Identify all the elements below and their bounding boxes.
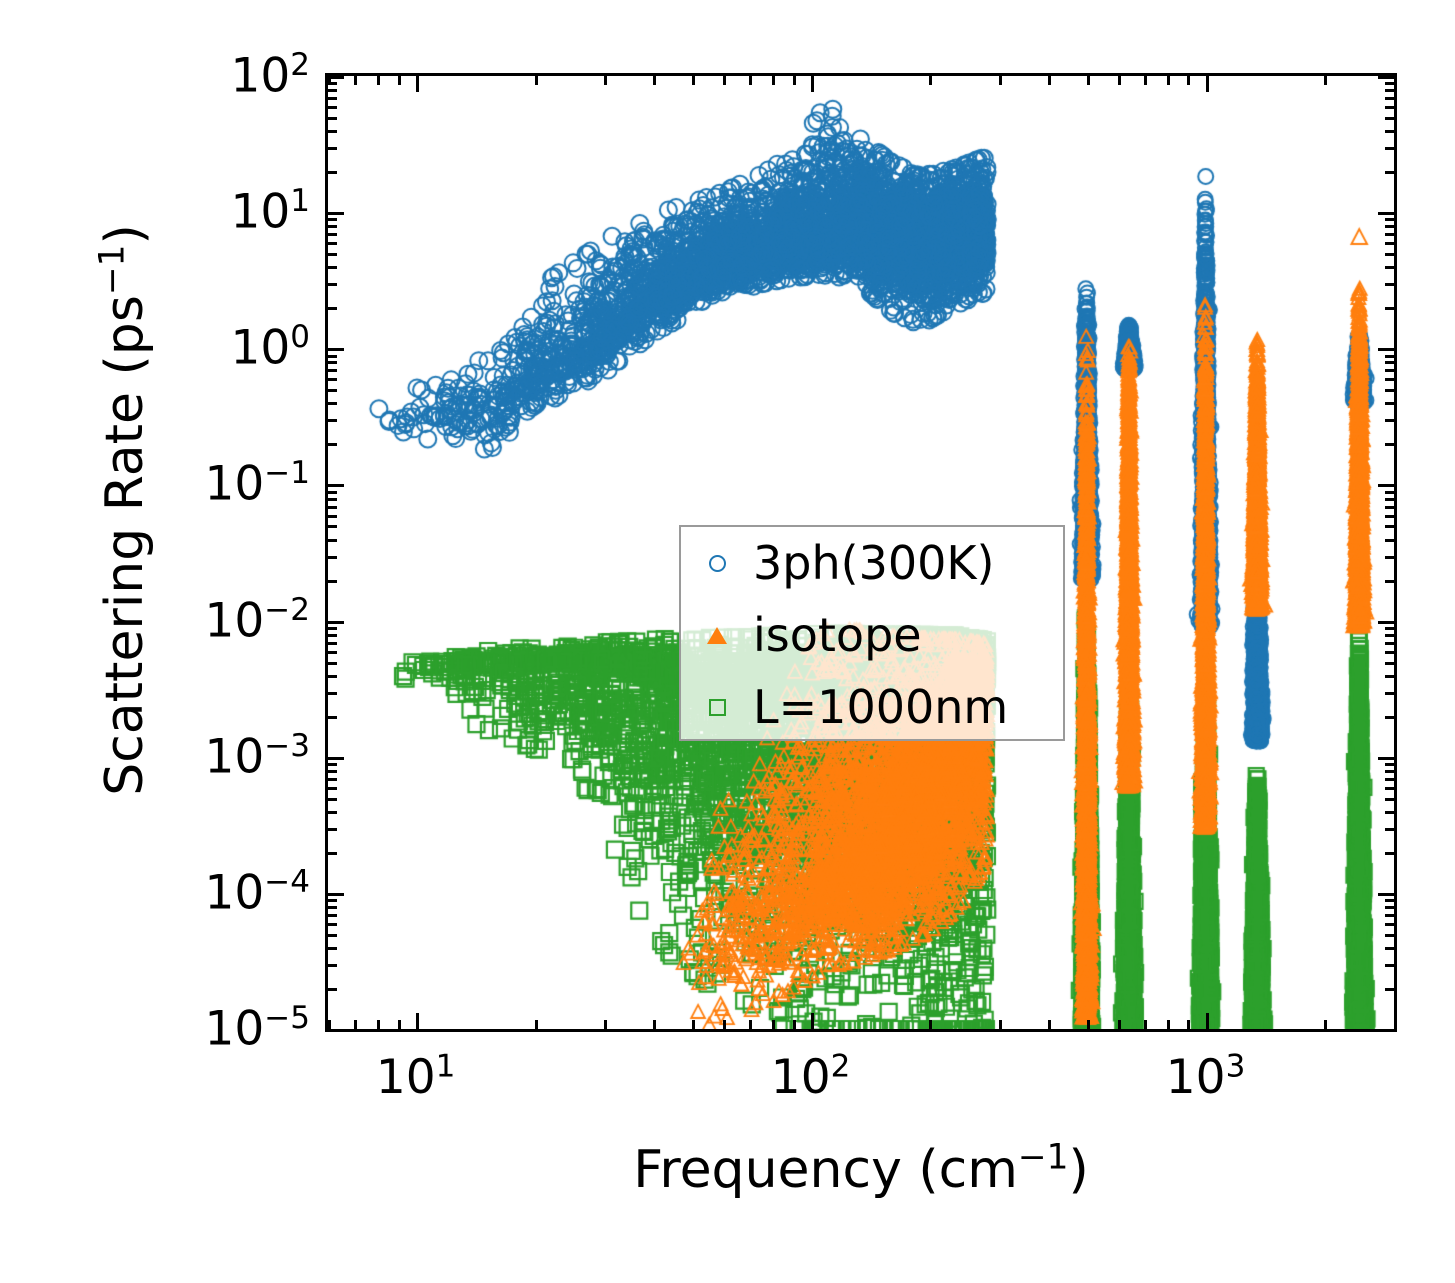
axis-tick (1385, 914, 1394, 917)
axis-tick (398, 76, 401, 85)
axis-tick (354, 1020, 357, 1029)
axis-tick (354, 76, 357, 85)
axis-tick (328, 498, 337, 501)
axis-tick (328, 627, 337, 630)
axis-tick (1385, 627, 1394, 630)
axis-tick (328, 934, 337, 937)
y-axis-title-tail: ) (95, 224, 155, 244)
axis-tick (1385, 651, 1394, 654)
axis-tick (1187, 1020, 1190, 1029)
axis-tick (772, 76, 775, 85)
legend[interactable]: 3ph(300K) isotope L=1000nm (679, 525, 1065, 741)
axis-tick (793, 76, 796, 85)
axis-tick (1206, 76, 1209, 92)
axis-tick (723, 1020, 726, 1029)
axis-tick (328, 692, 337, 695)
axis-tick (328, 988, 337, 991)
axis-tick (1385, 662, 1394, 665)
axis-tick (1385, 443, 1394, 446)
axis-tick (1385, 242, 1394, 245)
axis-tick (328, 1029, 344, 1032)
axis-tick (811, 1013, 814, 1029)
axis-tick (1385, 515, 1394, 518)
axis-tick (328, 770, 337, 773)
legend-label-3ph: 3ph(300K) (753, 540, 994, 586)
y-tick-label: 10−5 (204, 1006, 310, 1053)
axis-tick (1118, 76, 1121, 85)
axis-tick (1324, 1020, 1327, 1029)
axis-tick (1378, 621, 1394, 624)
figure: Scattering Rate (ps−1) Frequency (cm−1) … (0, 0, 1455, 1283)
axis-tick (692, 1020, 695, 1029)
axis-tick (328, 233, 337, 236)
axis-tick (1385, 692, 1394, 695)
axis-tick (1385, 852, 1394, 855)
axis-tick (811, 76, 814, 92)
axis-tick (1087, 1020, 1090, 1029)
axis-tick (1385, 525, 1394, 528)
axis-tick (1385, 97, 1394, 100)
axis-tick (1385, 171, 1394, 174)
axis-tick (1087, 76, 1090, 85)
axis-tick (328, 307, 337, 310)
y-tick-label: 101 (230, 189, 310, 236)
axis-tick (328, 778, 337, 781)
y-tick-label: 10−1 (204, 461, 310, 508)
axis-tick (328, 515, 337, 518)
axis-tick (1385, 828, 1394, 831)
x-axis-title-text: Frequency (cm (633, 1140, 1018, 1200)
axis-tick (328, 1020, 331, 1029)
axis-tick (328, 757, 344, 760)
square-icon (681, 699, 753, 716)
axis-tick (1385, 147, 1394, 150)
x-tick-label: 103 (1166, 1054, 1246, 1101)
axis-tick (328, 266, 337, 269)
x-tick-label: 101 (376, 1054, 456, 1101)
axis-tick (328, 97, 337, 100)
axis-tick (416, 1013, 419, 1029)
axis-tick (1385, 716, 1394, 719)
axis-tick (1378, 1029, 1394, 1032)
axis-tick (1385, 763, 1394, 766)
axis-tick (328, 914, 337, 917)
axis-tick (1385, 539, 1394, 542)
axis-tick (692, 76, 695, 85)
axis-tick (1385, 82, 1394, 85)
axis-tick (1385, 770, 1394, 773)
axis-tick (328, 218, 337, 221)
axis-tick (328, 525, 337, 528)
axis-tick (653, 1020, 656, 1029)
axis-tick (328, 212, 344, 215)
legend-item-boundary[interactable]: L=1000nm (681, 671, 1063, 743)
axis-tick (1394, 76, 1397, 85)
axis-tick (328, 580, 337, 583)
axis-tick (328, 651, 337, 654)
axis-tick (328, 369, 337, 372)
y-tick-label: 10−3 (204, 733, 310, 780)
axis-tick (1385, 675, 1394, 678)
axis-tick (999, 76, 1002, 85)
axis-tick (328, 389, 337, 392)
axis-tick (1385, 355, 1394, 358)
y-axis-title-text: Scattering Rate (ps (95, 295, 155, 796)
axis-tick (1378, 348, 1394, 351)
axis-tick (328, 419, 337, 422)
axis-tick (929, 76, 932, 85)
axis-tick (328, 491, 337, 494)
axis-tick (1385, 906, 1394, 909)
axis-tick (1385, 988, 1394, 991)
axis-tick (328, 906, 337, 909)
triangle-icon (681, 627, 753, 644)
axis-tick (1385, 266, 1394, 269)
axis-tick (749, 1020, 752, 1029)
axis-tick (929, 1020, 932, 1029)
axis-tick (328, 348, 344, 351)
axis-tick (1385, 811, 1394, 814)
axis-tick (1324, 76, 1327, 85)
axis-tick (604, 76, 607, 85)
axis-tick (328, 798, 337, 801)
axis-tick (328, 283, 337, 286)
axis-tick (1385, 283, 1394, 286)
axis-tick (398, 1020, 401, 1029)
legend-label-isotope: isotope (753, 612, 922, 658)
axis-tick (328, 106, 337, 109)
axis-tick (1385, 225, 1394, 228)
axis-tick (328, 443, 337, 446)
axis-tick (328, 947, 337, 950)
axis-tick (535, 1020, 538, 1029)
axis-tick (328, 556, 337, 559)
axis-tick (328, 378, 337, 381)
axis-tick (328, 539, 337, 542)
axis-tick (1118, 1020, 1121, 1029)
axis-tick (1048, 1020, 1051, 1029)
axis-tick (1048, 76, 1051, 85)
axis-tick (1144, 1020, 1147, 1029)
axis-tick (1385, 389, 1394, 392)
x-axis-title-exponent: −1 (1018, 1138, 1069, 1178)
y-axis-title: Scattering Rate (ps−1) (95, 30, 155, 990)
y-tick-label: 100 (230, 325, 310, 372)
axis-tick (1385, 556, 1394, 559)
axis-tick (1378, 484, 1394, 487)
axis-tick (1378, 212, 1394, 215)
axis-tick (328, 76, 344, 79)
axis-tick (328, 506, 337, 509)
axis-tick (1385, 634, 1394, 637)
axis-tick (328, 964, 337, 967)
y-tick-label: 102 (230, 53, 310, 100)
axis-tick (793, 1020, 796, 1029)
axis-tick (328, 662, 337, 665)
circle-icon (681, 555, 753, 572)
axis-tick (1206, 1013, 1209, 1029)
axis-tick (328, 811, 337, 814)
axis-tick (1385, 934, 1394, 937)
axis-tick (416, 76, 419, 92)
plot-area[interactable]: 3ph(300K) isotope L=1000nm (325, 73, 1397, 1032)
axis-tick (328, 171, 337, 174)
axis-tick (328, 787, 337, 790)
axis-tick (1385, 787, 1394, 790)
axis-tick (1385, 307, 1394, 310)
axis-tick (1385, 798, 1394, 801)
axis-tick (328, 355, 337, 358)
axis-tick (1167, 1020, 1170, 1029)
axis-tick (328, 621, 344, 624)
axis-tick (1378, 76, 1394, 79)
axis-tick (1385, 218, 1394, 221)
axis-tick (1385, 899, 1394, 902)
axis-tick (328, 117, 337, 120)
axis-tick (1385, 580, 1394, 583)
axis-tick (1167, 76, 1170, 85)
axis-tick (328, 642, 337, 645)
axis-tick (999, 1020, 1002, 1029)
axis-tick (328, 89, 337, 92)
axis-tick (653, 76, 656, 85)
axis-tick (328, 82, 337, 85)
axis-tick (377, 76, 380, 85)
axis-tick (1385, 778, 1394, 781)
axis-tick (1385, 361, 1394, 364)
axis-tick (328, 361, 337, 364)
axis-tick (1385, 947, 1394, 950)
x-axis-title-tail: ) (1069, 1140, 1089, 1200)
axis-tick (1385, 117, 1394, 120)
axis-tick (1385, 233, 1394, 236)
axis-tick (772, 1020, 775, 1029)
axis-tick (328, 899, 337, 902)
axis-tick (1394, 1020, 1397, 1029)
x-axis-title: Frequency (cm−1) (325, 1140, 1397, 1200)
axis-tick (1385, 106, 1394, 109)
axis-tick (1385, 642, 1394, 645)
axis-tick (328, 893, 344, 896)
axis-tick (328, 147, 337, 150)
axis-tick (1378, 757, 1394, 760)
axis-tick (535, 76, 538, 85)
axis-tick (328, 828, 337, 831)
axis-tick (1187, 76, 1190, 85)
axis-tick (328, 716, 337, 719)
axis-tick (328, 253, 337, 256)
axis-tick (328, 634, 337, 637)
axis-tick (328, 225, 337, 228)
axis-tick (1144, 76, 1147, 85)
axis-tick (328, 852, 337, 855)
axis-tick (723, 76, 726, 85)
axis-tick (1385, 491, 1394, 494)
axis-tick (377, 1020, 380, 1029)
legend-item-3ph[interactable]: 3ph(300K) (681, 527, 1063, 599)
axis-tick (1385, 130, 1394, 133)
axis-tick (1385, 923, 1394, 926)
axis-tick (604, 1020, 607, 1029)
axis-tick (328, 923, 337, 926)
axis-tick (749, 76, 752, 85)
axis-tick (1385, 89, 1394, 92)
y-tick-label: 10−2 (204, 597, 310, 644)
legend-item-isotope[interactable]: isotope (681, 599, 1063, 671)
axis-tick (328, 130, 337, 133)
axis-tick (1385, 402, 1394, 405)
axis-tick (1385, 378, 1394, 381)
axis-tick (1385, 506, 1394, 509)
axis-tick (1385, 498, 1394, 501)
axis-tick (328, 402, 337, 405)
x-tick-label: 102 (771, 1054, 851, 1101)
legend-label-boundary: L=1000nm (753, 684, 1008, 730)
axis-tick (1385, 369, 1394, 372)
axis-tick (1385, 253, 1394, 256)
y-tick-label: 10−4 (204, 869, 310, 916)
axis-tick (328, 675, 337, 678)
axis-tick (328, 763, 337, 766)
axis-tick (328, 484, 344, 487)
axis-tick (328, 242, 337, 245)
axis-tick (1385, 419, 1394, 422)
y-axis-title-exponent: −1 (93, 245, 133, 296)
axis-tick (1385, 964, 1394, 967)
axis-tick (1378, 893, 1394, 896)
